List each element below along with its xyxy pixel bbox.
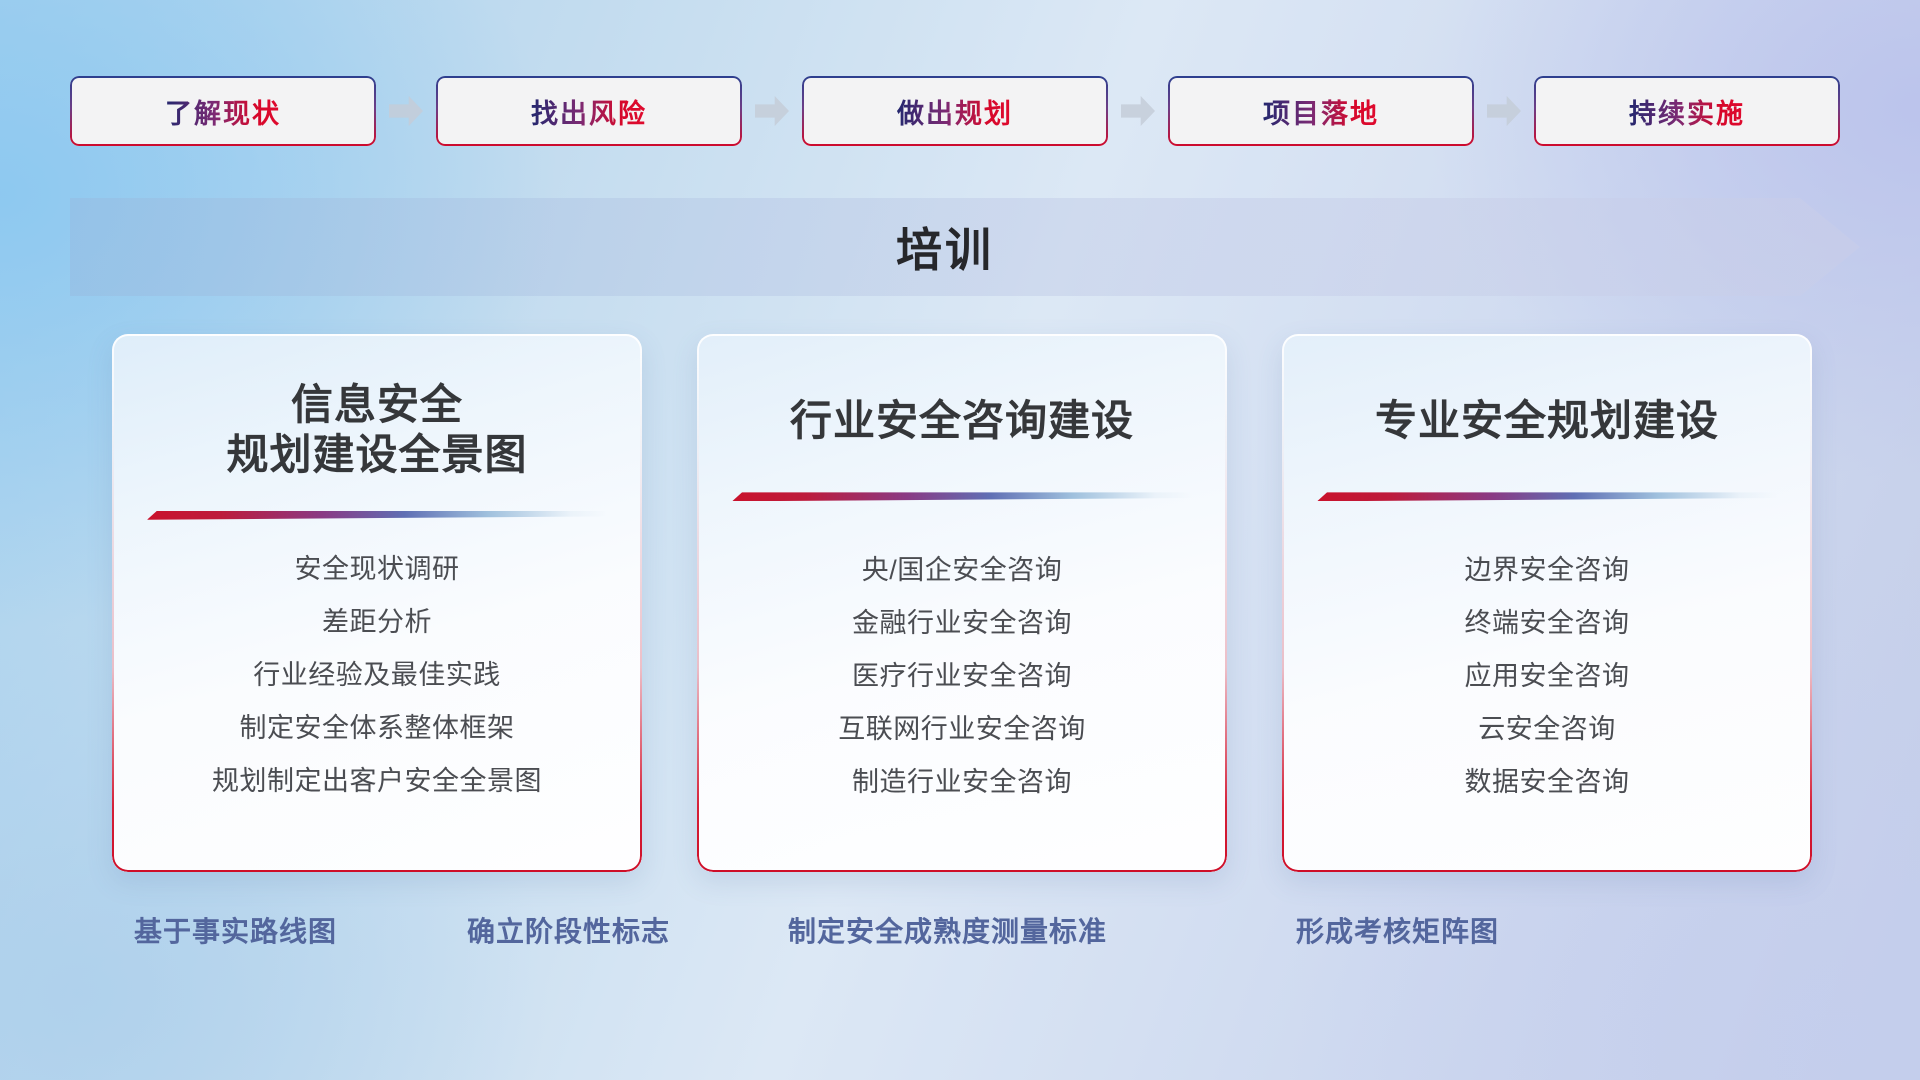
list-item: 行业经验及最佳实践	[253, 662, 501, 689]
caption-1: 基于事实路线图	[134, 910, 337, 950]
card-row: 信息安全 规划建设全景图 安全现状调研 差距分析 行业经验及最佳实践 制定安全体…	[112, 334, 1812, 872]
card-title-1: 信息安全 规划建设全景图	[226, 380, 527, 481]
list-item: 互联网行业安全咨询	[838, 716, 1086, 743]
slide-canvas: 了解现状 找出风险 做出规划 项目落地 持续实施 培训 信息安全 规划建设全景图	[0, 0, 1920, 1080]
training-banner: 培训	[70, 198, 1860, 296]
card-2[interactable]: 行业安全咨询建设 央/国企安全咨询 金融行业安全咨询 医疗行业安全咨询 互联网行…	[697, 334, 1227, 872]
step-label-3: 做出规划	[897, 92, 1013, 131]
step-arrow-icon-2	[742, 76, 802, 146]
step-box-5[interactable]: 持续实施	[1534, 76, 1840, 146]
list-item: 边界安全咨询	[1465, 557, 1630, 584]
caption-4: 形成考核矩阵图	[1296, 910, 1499, 950]
list-item: 差距分析	[322, 609, 432, 636]
step-arrow-icon-4	[1474, 76, 1534, 146]
card-divider-1	[147, 511, 607, 520]
step-label-1: 了解现状	[165, 92, 281, 131]
card-list-3: 边界安全咨询 终端安全咨询 应用安全咨询 云安全咨询 数据安全咨询	[1308, 557, 1786, 822]
step-arrow-icon-1	[376, 76, 436, 146]
list-item: 应用安全咨询	[1465, 663, 1630, 690]
list-item: 终端安全咨询	[1465, 610, 1630, 637]
card-list-2: 央/国企安全咨询 金融行业安全咨询 医疗行业安全咨询 互联网行业安全咨询 制造行…	[723, 557, 1201, 822]
step-label-5: 持续实施	[1629, 92, 1745, 131]
step-label-2: 找出风险	[531, 92, 647, 131]
caption-row: 基于事实路线图 确立阶段性标志 制定安全成熟度测量标准 形成考核矩阵图	[0, 910, 1920, 970]
card-title-2: 行业安全咨询建设	[790, 396, 1134, 446]
list-item: 制造行业安全咨询	[852, 769, 1072, 796]
list-item: 制定安全体系整体框架	[240, 715, 515, 742]
step-box-4[interactable]: 项目落地	[1168, 76, 1474, 146]
card-divider-3	[1317, 492, 1777, 501]
banner-title: 培训	[896, 214, 994, 280]
caption-3: 制定安全成熟度测量标准	[788, 910, 1107, 950]
step-box-2[interactable]: 找出风险	[436, 76, 742, 146]
card-3[interactable]: 专业安全规划建设 边界安全咨询 终端安全咨询 应用安全咨询 云安全咨询 数据安全…	[1282, 334, 1812, 872]
list-item: 金融行业安全咨询	[852, 610, 1072, 637]
card-1[interactable]: 信息安全 规划建设全景图 安全现状调研 差距分析 行业经验及最佳实践 制定安全体…	[112, 334, 642, 872]
list-item: 医疗行业安全咨询	[852, 663, 1072, 690]
card-list-1: 安全现状调研 差距分析 行业经验及最佳实践 制定安全体系整体框架 规划制定出客户…	[138, 556, 616, 821]
step-box-3[interactable]: 做出规划	[802, 76, 1108, 146]
list-item: 规划制定出客户安全全景图	[212, 768, 542, 795]
list-item: 央/国企安全咨询	[862, 557, 1063, 584]
process-steps: 了解现状 找出风险 做出规划 项目落地 持续实施	[70, 76, 1850, 146]
step-label-4: 项目落地	[1263, 92, 1379, 131]
list-item: 数据安全咨询	[1465, 769, 1630, 796]
list-item: 云安全咨询	[1478, 716, 1616, 743]
step-arrow-icon-3	[1108, 76, 1168, 146]
caption-2: 确立阶段性标志	[467, 910, 670, 950]
card-divider-2	[732, 492, 1192, 501]
card-title-3: 专业安全规划建设	[1375, 396, 1719, 446]
step-box-1[interactable]: 了解现状	[70, 76, 376, 146]
list-item: 安全现状调研	[295, 556, 460, 583]
